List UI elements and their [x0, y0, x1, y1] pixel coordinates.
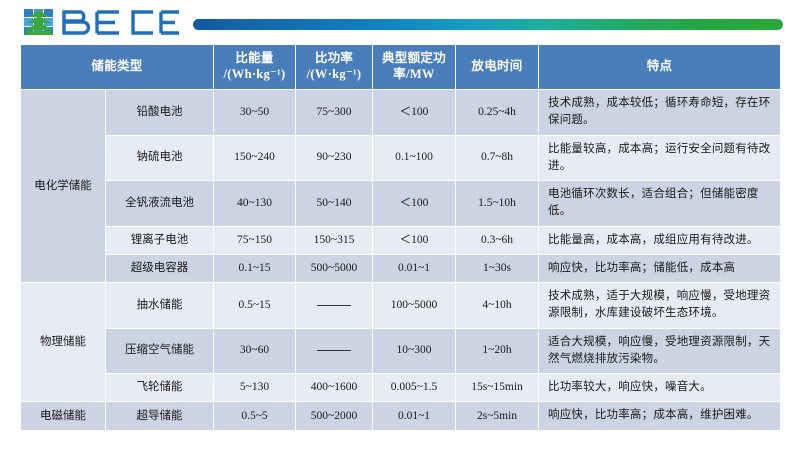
- em-dash-rule: [317, 350, 351, 351]
- header-label: 特点: [647, 59, 673, 73]
- cell-rated-power: ＜100: [373, 226, 456, 254]
- column-header-specific-power: 比功率 /(W·kg⁻¹): [296, 45, 373, 90]
- table-row: 飞轮储能 5~130 400~1600 0.005~1.5 15s~15min …: [21, 374, 781, 402]
- cell-features: 比能量高，成本高，成组应用有待改进。: [539, 226, 781, 254]
- cell-storage-type: 飞轮储能: [106, 374, 214, 402]
- cell-discharge-time: 2s~5min: [456, 402, 539, 430]
- table-row: 超级电容器 0.1~15 500~5000 0.01~1 1~30s 响应快，比…: [21, 254, 781, 282]
- column-header-specific-energy: 比能量 /(Wh·kg⁻¹): [214, 45, 296, 90]
- cell-specific-energy: 5~130: [214, 374, 296, 402]
- cell-specific-energy: 30~50: [214, 90, 296, 136]
- table-row: 物理储能 抽水储能 0.5~15 100~5000 4~10h 技术成熟，适于大…: [21, 283, 781, 329]
- header-sublabel: /(Wh·kg⁻¹): [214, 67, 295, 83]
- cell-features: 响应快，比功率高；成本高，维护困难。: [539, 402, 781, 430]
- table-header-row: 储能类型 比能量 /(Wh·kg⁻¹) 比功率 /(W·kg⁻¹) 典型额定功 …: [21, 45, 781, 90]
- cell-specific-energy: 40~130: [214, 181, 296, 227]
- cell-discharge-time: 4~10h: [456, 283, 539, 329]
- cell-specific-energy: 75~150: [214, 226, 296, 254]
- table-row: 锂离子电池 75~150 150~315 ＜100 0.3~6h 比能量高，成本…: [21, 226, 781, 254]
- cell-storage-type: 抽水储能: [106, 283, 214, 329]
- cell-specific-energy: 150~240: [214, 135, 296, 181]
- cell-specific-power: 500~2000: [296, 402, 373, 430]
- cell-storage-type: 超级电容器: [106, 254, 214, 282]
- header-label: 比能量: [235, 51, 273, 65]
- table-body: 电化学储能 铅酸电池 30~50 75~300 ＜100 0.25~4h 技术成…: [21, 90, 781, 431]
- cell-specific-energy: 30~60: [214, 328, 296, 374]
- table-row: 全钒液流电池 40~130 50~140 ＜100 1.5~10h 电池循环次数…: [21, 181, 781, 227]
- cell-specific-power: 90~230: [296, 135, 373, 181]
- column-header-discharge-time: 放电时间: [456, 45, 539, 90]
- header-label: 储能类型: [91, 59, 142, 73]
- group-label-physical: 物理储能: [21, 283, 106, 402]
- table-row: 电磁储能 超导储能 0.5~5 500~2000 0.01~1 2s~5min …: [21, 402, 781, 430]
- cell-storage-type: 超导储能: [106, 402, 214, 430]
- table-row: 钠硫电池 150~240 90~230 0.1~100 0.7~8h 比能量较高…: [21, 135, 781, 181]
- cell-specific-power: 400~1600: [296, 374, 373, 402]
- group-label-electrochemical: 电化学储能: [21, 90, 106, 283]
- cell-discharge-time: 0.3~6h: [456, 226, 539, 254]
- cell-specific-energy: 0.5~5: [214, 402, 296, 430]
- cell-rated-power: 0.1~100: [373, 135, 456, 181]
- cell-discharge-time: 15s~15min: [456, 374, 539, 402]
- cell-specific-energy: 0.1~15: [214, 254, 296, 282]
- cell-storage-type: 铅酸电池: [106, 90, 214, 136]
- cell-features: 技术成熟，成本较低；循环寿命短，存在环保问题。: [539, 90, 781, 136]
- cell-specific-power: 150~315: [296, 226, 373, 254]
- cell-discharge-time: 1~30s: [456, 254, 539, 282]
- cell-specific-power: 50~140: [296, 181, 373, 227]
- header-label: 比功率: [315, 51, 353, 65]
- cell-features: 响应快，比功率高；储能低，成本高: [539, 254, 781, 282]
- cell-rated-power: 0.01~1: [373, 402, 456, 430]
- header-sublabel: /(W·kg⁻¹): [296, 67, 372, 83]
- column-header-rated-power: 典型额定功 率/MW: [373, 45, 456, 90]
- pagoda-grid-logo-icon: [24, 9, 54, 36]
- cell-specific-power: 500~5000: [296, 254, 373, 282]
- cell-rated-power: 10~300: [373, 328, 456, 374]
- cell-features: 电池循环次数长，适合组合；但储能密度低。: [539, 181, 781, 227]
- group-label-electromagnetic: 电磁储能: [21, 402, 106, 430]
- column-header-features: 特点: [539, 45, 781, 90]
- storage-comparison-table-wrap: 储能类型 比能量 /(Wh·kg⁻¹) 比功率 /(W·kg⁻¹) 典型额定功 …: [20, 44, 780, 431]
- accent-gradient-bar: [193, 19, 783, 30]
- cell-features: 比功率较大，响应快，噪音大。: [539, 374, 781, 402]
- cell-storage-type: 钠硫电池: [106, 135, 214, 181]
- cell-discharge-time: 1.5~10h: [456, 181, 539, 227]
- header-sublabel: 率/MW: [373, 67, 455, 83]
- logo-wordmark: [61, 9, 181, 36]
- cell-storage-type: 全钒液流电池: [106, 181, 214, 227]
- cell-features: 比能量较高，成本高；运行安全问题有待改进。: [539, 135, 781, 181]
- cell-storage-type: 锂离子电池: [106, 226, 214, 254]
- cell-specific-power: [296, 283, 373, 329]
- storage-comparison-table: 储能类型 比能量 /(Wh·kg⁻¹) 比功率 /(W·kg⁻¹) 典型额定功 …: [20, 44, 781, 431]
- cell-discharge-time: 0.7~8h: [456, 135, 539, 181]
- table-row: 电化学储能 铅酸电池 30~50 75~300 ＜100 0.25~4h 技术成…: [21, 90, 781, 136]
- brand-header: [0, 0, 800, 44]
- cell-rated-power: 0.005~1.5: [373, 374, 456, 402]
- header-label: 典型额定功: [382, 51, 446, 65]
- em-dash-rule: [317, 305, 351, 306]
- cell-specific-power: [296, 328, 373, 374]
- logo: [24, 9, 181, 36]
- cell-specific-energy: 0.5~15: [214, 283, 296, 329]
- cell-rated-power: 100~5000: [373, 283, 456, 329]
- column-header-storage-type: 储能类型: [21, 45, 214, 90]
- cell-rated-power: ＜100: [373, 90, 456, 136]
- cell-rated-power: 0.01~1: [373, 254, 456, 282]
- cell-discharge-time: 1~20h: [456, 328, 539, 374]
- header-label: 放电时间: [471, 59, 522, 73]
- cell-discharge-time: 0.25~4h: [456, 90, 539, 136]
- cell-specific-power: 75~300: [296, 90, 373, 136]
- cell-storage-type: 压缩空气储能: [106, 328, 214, 374]
- table-row: 压缩空气储能 30~60 10~300 1~20h 适合大规模，响应慢，受地理资…: [21, 328, 781, 374]
- cell-rated-power: ＜100: [373, 181, 456, 227]
- cell-features: 适合大规模，响应慢，受地理资源限制，天然气燃烧排放污染物。: [539, 328, 781, 374]
- cell-features: 技术成熟，适于大规模，响应慢，受地理资源限制，水库建设破坏生态环境。: [539, 283, 781, 329]
